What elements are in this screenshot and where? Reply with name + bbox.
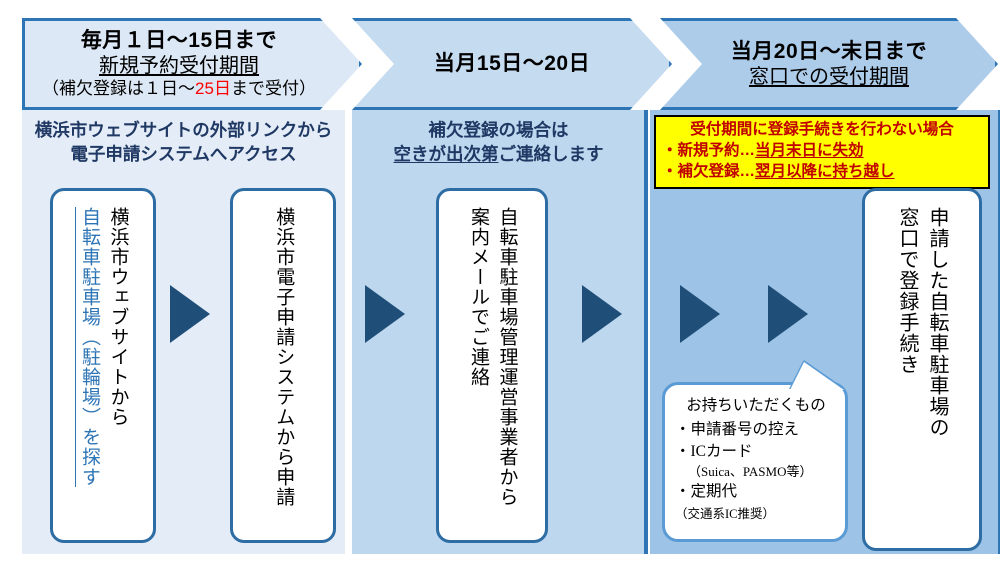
stage-1-header-line3-pre: （補欠登録は１日〜 (42, 79, 195, 98)
flow-arrow-icon-2 (365, 285, 405, 343)
warning-item-1-label: ・新規予約… (662, 142, 755, 159)
stage-1-header-line3-highlight: 25日 (195, 79, 231, 98)
bubble-title: お持ちいただくもの (675, 395, 837, 417)
card-3-column-right: 自転車駐車場管理運営事業者から (492, 207, 521, 507)
speech-bubble-tail (790, 362, 844, 390)
card-4-left-part-b: で登録手続き (896, 249, 918, 375)
card-2-column-right: 横浜市電子申請システムから申請 (269, 207, 298, 507)
card-1-column-right: 横浜市ウェブサイトから (103, 207, 132, 427)
card-4-left-part-a: 窓口 (896, 207, 918, 249)
card-4-column-left: 窓口で登録手続き (892, 207, 922, 375)
stage-2-caption-line2-underlined: 空きが出次第 (394, 144, 499, 164)
flow-arrow-icon-4 (680, 285, 720, 343)
step-card-eapplication: 横浜市電子申請システムから申請 (230, 188, 336, 543)
warning-item-2-label: ・補欠登録… (662, 163, 755, 180)
bubble-item-3-label: ・定期代 (675, 483, 737, 500)
bubble-item-2: ・ICカード (675, 441, 837, 463)
warning-item-2-value: 翌月以降に持ち越し (755, 163, 895, 180)
bubble-item-3: ・定期代（交通系IC推奨） (675, 481, 837, 525)
stage-3-header-line2: 窓口での受付期間 (689, 65, 969, 89)
stage-2-caption-line1: 補欠登録の場合は (356, 118, 641, 142)
card-4-right-part-c: の (926, 417, 948, 438)
bubble-item-3-note: （交通系IC推奨） (675, 507, 775, 521)
step-card-operator-mail: 自転車駐車場管理運営事業者から 案内メールでご連絡 (436, 188, 548, 543)
card-1-column-left-link[interactable]: 自転車駐車場（駐輪場）を探す (75, 207, 104, 487)
stage-1-caption: 横浜市ウェブサイトの外部リンクから 電子申請システムへアクセス (26, 118, 341, 166)
stage-1-header-line3-post: まで受付） (231, 79, 316, 98)
warning-item-1-value: 当月末日に失効 (755, 142, 864, 159)
stage-1-caption-line1: 横浜市ウェブサイトの外部リンクから (26, 118, 341, 142)
flow-arrow-icon-5 (768, 285, 808, 343)
step-card-counter-registration: 申請した自転車駐車場の 窓口で登録手続き (862, 188, 982, 551)
card-3-column-left: 案内メールでご連絡 (464, 207, 493, 387)
stage-header-chevron-3: 当月20日〜末日まで 窓口での受付期間 (660, 18, 998, 110)
stage-1-header-line3: （補欠登録は１日〜25日まで受付） (25, 79, 333, 100)
bubble-item-2-sub: （Suica、PASMO等） (675, 463, 837, 481)
warning-title: 受付期間に登録手続きを行わない場合 (660, 120, 984, 141)
warning-item-1: ・新規予約…当月末日に失効 (660, 141, 984, 162)
stage-3-header-line1: 当月20日〜末日まで (689, 39, 969, 65)
card-4-right-part-a: 申請した (926, 207, 948, 291)
speech-bubble-bring-items: お持ちいただくもの ・申請番号の控え ・ICカード （Suica、PASMO等）… (662, 382, 848, 542)
step-card-find-parking: 横浜市ウェブサイトから 自転車駐車場（駐輪場）を探す (50, 188, 156, 543)
bubble-item-1: ・申請番号の控え (675, 419, 837, 441)
stage-1-header-line1: 毎月１日〜15日まで (25, 28, 333, 54)
warning-item-2: ・補欠登録…翌月以降に持ち越し (660, 162, 984, 183)
flow-arrow-icon-3 (582, 285, 622, 343)
stage-1-caption-line2: 電子申請システムへアクセス (26, 142, 341, 166)
card-4-right-part-b: 自転車駐車場 (926, 291, 948, 417)
stage-header-chevron-1: 毎月１日〜15日まで 新規予約受付期間 （補欠登録は１日〜25日まで受付） (22, 18, 362, 110)
warning-box: 受付期間に登録手続きを行わない場合 ・新規予約…当月末日に失効 ・補欠登録…翌月… (654, 115, 990, 189)
stage-2-caption-line2: 空きが出次第ご連絡します (356, 142, 641, 166)
card-4-column-right: 申請した自転車駐車場の (922, 207, 952, 438)
flow-arrow-icon-1 (170, 285, 210, 343)
stage-2-caption-line2-rest: ご連絡します (499, 144, 604, 164)
stage-header-chevron-2: 当月15日〜20日 (352, 18, 672, 110)
stage-2-caption: 補欠登録の場合は 空きが出次第ご連絡します (356, 118, 641, 166)
stage-1-header-line2: 新規予約受付期間 (25, 54, 333, 78)
stage-2-header-line1: 当月15日〜20日 (381, 51, 643, 77)
